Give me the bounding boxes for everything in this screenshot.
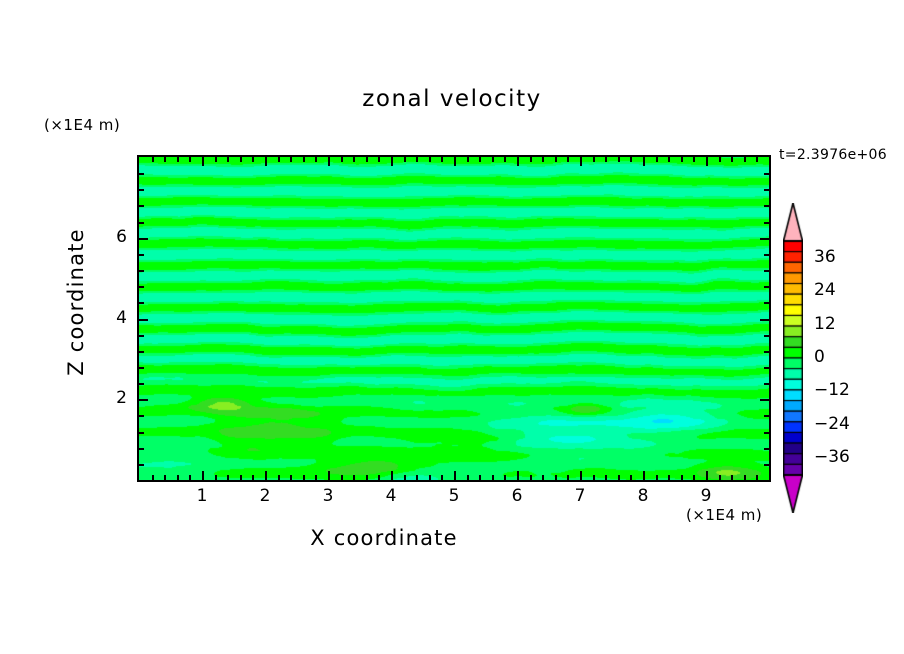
colorbar-tick-label: −24 xyxy=(814,414,850,434)
x-tick-label: 7 xyxy=(560,486,600,506)
x-tick-top xyxy=(630,157,632,162)
y-tick-right xyxy=(764,351,769,353)
x-tick-top xyxy=(756,157,758,162)
x-axis-title: X coordinate xyxy=(0,526,768,550)
x-tick-bottom xyxy=(580,471,582,480)
x-tick-bottom xyxy=(404,475,406,480)
x-tick-label: 8 xyxy=(623,486,663,506)
x-tick-bottom xyxy=(643,471,645,480)
x-tick-bottom xyxy=(467,475,469,480)
y-tick-right xyxy=(764,464,769,466)
y-tick-left xyxy=(139,286,144,288)
plot-root: zonal velocity (×1E4 m) t=2.3976e+06 123… xyxy=(0,0,904,654)
x-tick-bottom xyxy=(706,471,708,480)
x-tick-bottom xyxy=(479,475,481,480)
y-tick-right xyxy=(764,367,769,369)
y-tick-left xyxy=(139,254,144,256)
y-tick-left xyxy=(139,319,148,321)
x-tick-top xyxy=(693,157,695,162)
y-tick-right xyxy=(764,415,769,417)
x-tick-top xyxy=(555,157,557,162)
colorbar-tick-label: 0 xyxy=(814,347,825,367)
x-tick-bottom xyxy=(215,475,217,480)
x-tick-top xyxy=(618,157,620,162)
x-tick-bottom xyxy=(252,475,254,480)
x-tick-bottom xyxy=(303,475,305,480)
x-tick-bottom xyxy=(177,475,179,480)
colorbar-tick-label: 24 xyxy=(814,280,836,300)
y-tick-right xyxy=(764,448,769,450)
y-tick-right xyxy=(764,383,769,385)
y-tick-right xyxy=(764,286,769,288)
y-tick-left xyxy=(139,448,144,450)
x-tick-bottom xyxy=(744,475,746,480)
x-tick-top xyxy=(681,157,683,162)
y-axis-unit-label: (×1E4 m) xyxy=(44,116,120,134)
x-tick-bottom xyxy=(492,475,494,480)
x-tick-top xyxy=(366,157,368,162)
x-tick-top xyxy=(416,157,418,162)
x-tick-bottom xyxy=(618,475,620,480)
y-tick-left xyxy=(139,383,144,385)
x-tick-bottom xyxy=(593,475,595,480)
y-tick-left xyxy=(139,222,144,224)
y-tick-left xyxy=(139,399,148,401)
y-tick-right xyxy=(764,205,769,207)
x-tick-top xyxy=(404,157,406,162)
x-tick-bottom xyxy=(681,475,683,480)
y-tick-left xyxy=(139,367,144,369)
y-tick-label: 6 xyxy=(87,227,127,247)
x-tick-top xyxy=(479,157,481,162)
x-tick-bottom xyxy=(202,471,204,480)
x-tick-top xyxy=(668,157,670,162)
x-tick-bottom xyxy=(441,475,443,480)
x-tick-bottom xyxy=(555,475,557,480)
x-tick-label: 5 xyxy=(434,486,474,506)
x-tick-bottom xyxy=(416,475,418,480)
y-tick-label: 4 xyxy=(87,308,127,328)
x-tick-label: 2 xyxy=(245,486,285,506)
x-tick-bottom xyxy=(656,475,658,480)
x-tick-top xyxy=(202,157,204,166)
y-tick-right xyxy=(764,189,769,191)
x-tick-bottom xyxy=(530,475,532,480)
velocity-field-canvas xyxy=(139,157,769,480)
y-tick-left xyxy=(139,238,148,240)
colorbar-tick-label: −36 xyxy=(814,447,850,467)
y-tick-right xyxy=(764,173,769,175)
x-tick-top xyxy=(643,157,645,166)
x-tick-top xyxy=(252,157,254,162)
x-tick-label: 6 xyxy=(497,486,537,506)
x-tick-bottom xyxy=(693,475,695,480)
x-tick-top xyxy=(467,157,469,162)
x-tick-top xyxy=(441,157,443,162)
x-tick-bottom xyxy=(164,475,166,480)
x-tick-top xyxy=(719,157,721,162)
x-tick-top xyxy=(656,157,658,162)
y-tick-right xyxy=(760,238,769,240)
x-tick-label: 4 xyxy=(371,486,411,506)
x-tick-top xyxy=(265,157,267,166)
x-tick-top xyxy=(391,157,393,166)
x-tick-bottom xyxy=(265,471,267,480)
y-tick-right xyxy=(764,222,769,224)
contour-plot-area xyxy=(137,155,771,482)
y-tick-right xyxy=(760,319,769,321)
x-tick-top xyxy=(744,157,746,162)
x-tick-bottom xyxy=(189,475,191,480)
y-tick-left xyxy=(139,205,144,207)
y-tick-left xyxy=(139,351,144,353)
x-tick-top xyxy=(731,157,733,162)
colorbar-tick-label: −12 xyxy=(814,380,850,400)
x-tick-bottom xyxy=(240,475,242,480)
x-tick-bottom xyxy=(152,475,154,480)
y-axis-title: Z coordinate xyxy=(64,202,88,402)
y-tick-right xyxy=(760,399,769,401)
y-tick-right xyxy=(764,254,769,256)
x-tick-bottom xyxy=(605,475,607,480)
x-tick-bottom xyxy=(454,471,456,480)
page-title: zonal velocity xyxy=(0,86,904,112)
x-tick-top xyxy=(605,157,607,162)
x-tick-top xyxy=(504,157,506,162)
x-tick-top xyxy=(530,157,532,162)
x-tick-bottom xyxy=(378,475,380,480)
x-tick-bottom xyxy=(341,475,343,480)
x-tick-top xyxy=(189,157,191,162)
y-tick-right xyxy=(764,432,769,434)
x-tick-bottom xyxy=(315,475,317,480)
y-tick-left xyxy=(139,302,144,304)
x-tick-top xyxy=(215,157,217,162)
x-tick-top xyxy=(240,157,242,162)
x-tick-top xyxy=(542,157,544,162)
time-annotation: t=2.3976e+06 xyxy=(779,147,887,163)
x-tick-top xyxy=(706,157,708,166)
colorbar-tick-label: 36 xyxy=(814,247,836,267)
x-tick-top xyxy=(227,157,229,162)
x-tick-top xyxy=(328,157,330,166)
x-tick-bottom xyxy=(517,471,519,480)
x-tick-top xyxy=(429,157,431,162)
x-tick-bottom xyxy=(353,475,355,480)
x-tick-top xyxy=(517,157,519,166)
x-tick-top xyxy=(278,157,280,162)
x-tick-bottom xyxy=(668,475,670,480)
y-tick-label: 2 xyxy=(87,388,127,408)
x-tick-bottom xyxy=(630,475,632,480)
x-tick-top xyxy=(290,157,292,162)
y-tick-left xyxy=(139,415,144,417)
x-tick-top xyxy=(341,157,343,162)
x-tick-bottom xyxy=(278,475,280,480)
y-tick-left xyxy=(139,432,144,434)
x-tick-bottom xyxy=(290,475,292,480)
x-tick-bottom xyxy=(227,475,229,480)
x-tick-bottom xyxy=(429,475,431,480)
x-tick-label: 1 xyxy=(182,486,222,506)
x-tick-top xyxy=(164,157,166,162)
x-tick-top xyxy=(580,157,582,166)
x-tick-bottom xyxy=(756,475,758,480)
x-tick-bottom xyxy=(567,475,569,480)
x-tick-top xyxy=(593,157,595,162)
y-tick-left xyxy=(139,335,144,337)
y-tick-left xyxy=(139,189,144,191)
x-tick-bottom xyxy=(719,475,721,480)
x-tick-bottom xyxy=(366,475,368,480)
x-tick-label: 3 xyxy=(308,486,348,506)
x-tick-top xyxy=(378,157,380,162)
x-tick-bottom xyxy=(731,475,733,480)
x-tick-top xyxy=(492,157,494,162)
x-tick-top xyxy=(567,157,569,162)
y-tick-right xyxy=(764,335,769,337)
y-tick-left xyxy=(139,173,144,175)
colorbar-canvas xyxy=(783,203,803,513)
y-tick-left xyxy=(139,270,144,272)
colorbar xyxy=(783,203,803,513)
x-tick-bottom xyxy=(391,471,393,480)
colorbar-tick-label: 12 xyxy=(814,314,836,334)
y-tick-right xyxy=(764,270,769,272)
x-tick-top xyxy=(353,157,355,162)
x-tick-bottom xyxy=(542,475,544,480)
x-tick-top xyxy=(315,157,317,162)
x-tick-bottom xyxy=(328,471,330,480)
x-tick-top xyxy=(177,157,179,162)
x-axis-unit-label: (×1E4 m) xyxy=(686,506,762,524)
x-tick-bottom xyxy=(504,475,506,480)
y-tick-right xyxy=(764,302,769,304)
x-tick-top xyxy=(303,157,305,162)
y-tick-left xyxy=(139,464,144,466)
x-tick-label: 9 xyxy=(686,486,726,506)
x-tick-top xyxy=(454,157,456,166)
x-tick-top xyxy=(152,157,154,162)
